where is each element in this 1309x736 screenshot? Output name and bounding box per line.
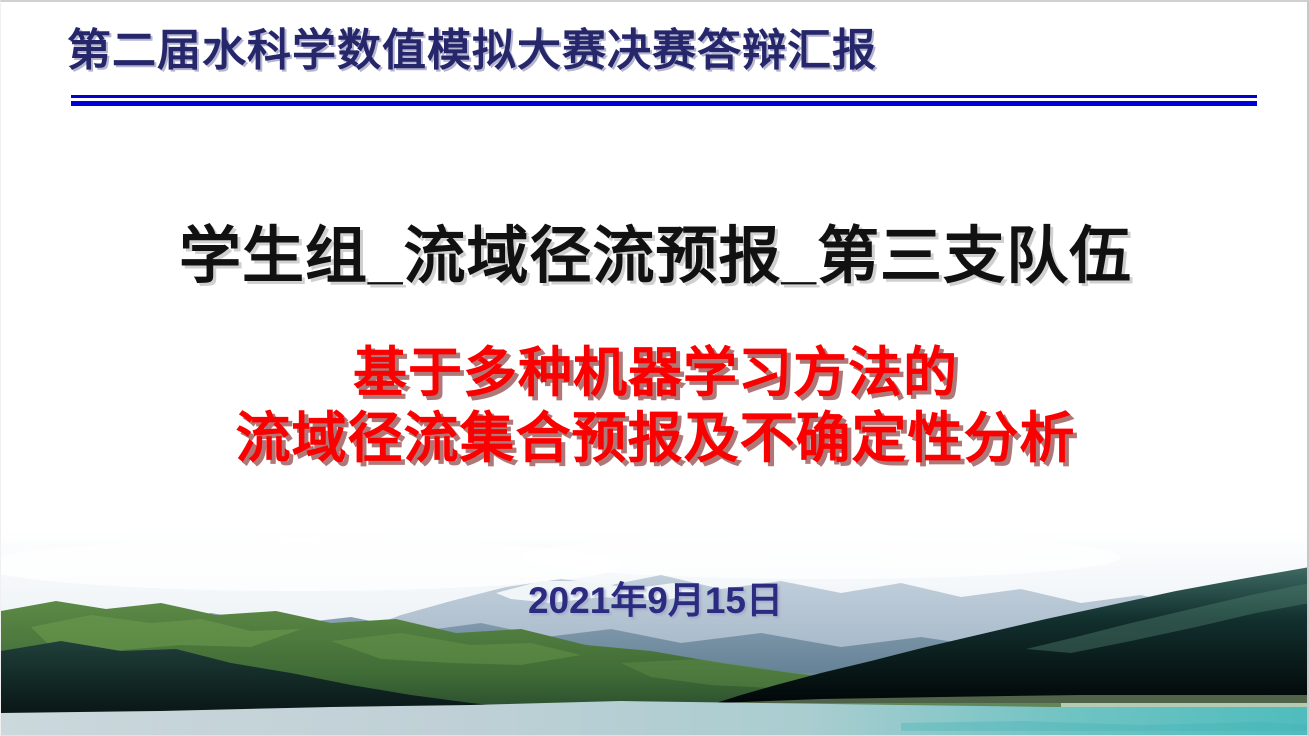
header-divider [71, 95, 1257, 105]
slide-header-title: 第二届水科学数值模拟大赛决赛答辩汇报 [67, 26, 877, 75]
header-divider-thick-line [71, 101, 1257, 106]
slide-main-title: 学生组_流域径流预报_第三支队伍 [1, 205, 1309, 295]
subtitle-line-1: 基于多种机器学习方法的 [1, 342, 1309, 406]
slide-subtitle: 基于多种机器学习方法的 流域径流集合预报及不确定性分析 [1, 342, 1309, 471]
lake-and-mountains-photo [1, 523, 1309, 735]
subtitle-line-2: 流域径流集合预报及不确定性分析 [1, 406, 1309, 471]
landscape-illustration [1, 523, 1309, 735]
presentation-slide: 第二届水科学数值模拟大赛决赛答辩汇报 学生组_流域径流预报_第三支队伍 基于多种… [0, 0, 1309, 736]
slide-date: 2021年9月15日 [1, 570, 1309, 624]
header-divider-thin-line [71, 95, 1257, 98]
photo-top-fade [1, 523, 1309, 549]
